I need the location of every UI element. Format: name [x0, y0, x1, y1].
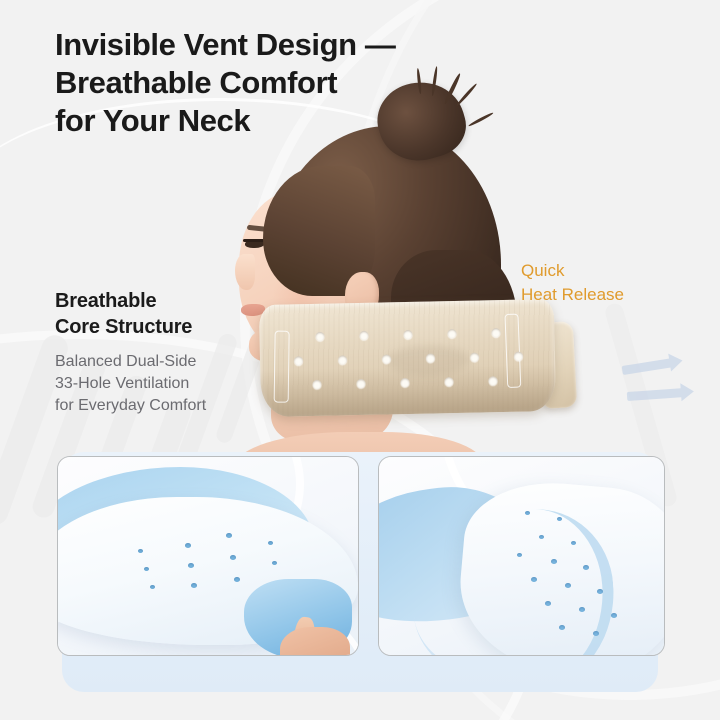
ventilation-hole	[551, 559, 557, 564]
ventilation-hole	[226, 533, 232, 538]
annotation-heading: Breathable Core Structure	[55, 288, 206, 340]
annotation-subtext: Balanced Dual-Side 33-Hole Ventilation f…	[55, 351, 206, 417]
eyelash	[243, 239, 265, 242]
ventilation-hole	[611, 613, 617, 618]
heat-release-arrow	[627, 388, 685, 401]
ventilation-hole	[597, 589, 603, 594]
ventilation-hole	[191, 583, 197, 588]
hair-wisp	[468, 112, 494, 128]
ventilation-hole	[531, 577, 537, 582]
heat-release-arrow	[622, 358, 675, 375]
nose	[235, 254, 255, 290]
hand	[280, 627, 350, 656]
ventilation-hole	[517, 553, 522, 557]
ventilation-hole	[144, 567, 149, 571]
annotation-subtext-line-1: Balanced Dual-Side	[55, 351, 206, 373]
ventilation-hole	[565, 583, 571, 588]
ventilation-hole	[539, 535, 544, 539]
quick-heat-release-annotation: Quick Heat Release	[521, 259, 624, 307]
heat-release-line-1: Quick	[521, 259, 624, 283]
ventilation-hole	[230, 555, 236, 560]
ventilation-hole	[188, 563, 194, 568]
annotation-heading-line-2: Core Structure	[55, 314, 206, 340]
ventilation-hole	[234, 577, 240, 582]
detail-panel-right	[378, 456, 665, 656]
ventilation-hole	[559, 625, 565, 630]
collar-seam-left	[274, 331, 290, 403]
ventilation-hole	[268, 541, 273, 545]
ventilation-hole	[593, 631, 599, 636]
ventilation-hole	[150, 585, 155, 589]
product-feature-image: Invisible Vent Design — Breathable Comfo…	[0, 0, 720, 720]
annotation-subtext-line-3: for Everyday Comfort	[55, 395, 206, 417]
ventilation-hole	[525, 511, 530, 515]
ventilation-hole	[138, 549, 143, 553]
cervical-collar	[259, 299, 556, 417]
page-title: Invisible Vent Design — Breathable Comfo…	[55, 26, 396, 140]
ventilation-hole	[272, 561, 277, 565]
detail-panel-left	[57, 456, 359, 656]
headline-line-3: for Your Neck	[55, 102, 396, 140]
breathable-core-annotation: Breathable Core Structure Balanced Dual-…	[55, 288, 206, 417]
headline-line-2: Breathable Comfort	[55, 64, 396, 102]
ventilation-hole	[545, 601, 551, 606]
heat-release-line-2: Heat Release	[521, 283, 624, 307]
annotation-subtext-line-2: 33-Hole Ventilation	[55, 373, 206, 395]
ventilation-hole	[185, 543, 191, 548]
ventilation-hole	[583, 565, 589, 570]
headline-line-1: Invisible Vent Design —	[55, 26, 396, 64]
hair-wisp	[455, 83, 477, 107]
ventilation-hole	[571, 541, 576, 545]
ventilation-hole	[579, 607, 585, 612]
annotation-heading-line-1: Breathable	[55, 288, 206, 314]
ventilation-hole	[557, 517, 562, 521]
